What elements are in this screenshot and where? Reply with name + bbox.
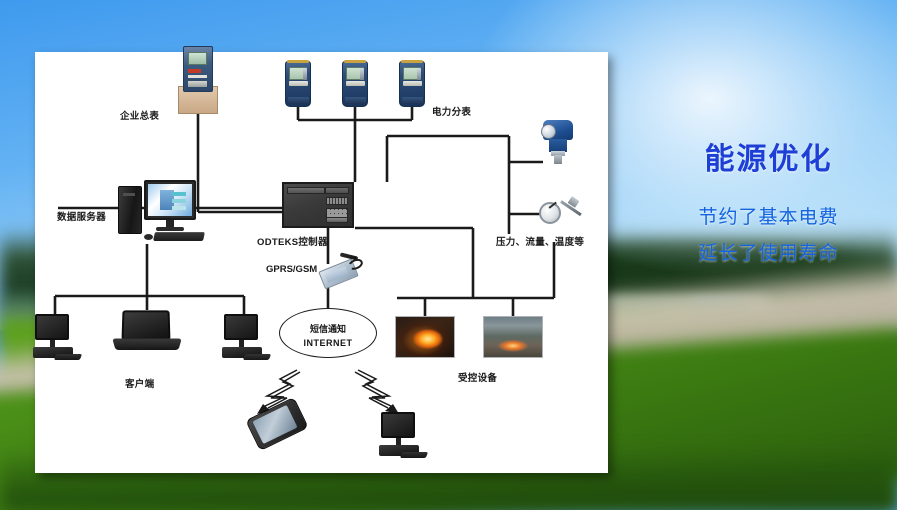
controller-box-icon [282,182,354,228]
node-mobile-terminal[interactable] [250,407,304,441]
furnace-photo [395,316,455,358]
node-gprs-modem[interactable] [320,257,364,287]
label-enterprise-meter: 企业总表 [120,108,159,122]
label-controller: ODTEKS控制器 [257,234,328,248]
electric-meter-icon [342,61,368,107]
network-cloud-icon[interactable]: 短信通知 INTERNET [279,308,377,358]
electric-meter-icon [285,61,311,107]
node-client-desktop-1[interactable] [29,314,81,364]
label-sensors: 压力、流量、温度等 [496,234,584,248]
node-remote-pc[interactable] [375,412,427,462]
node-power-submeter-1[interactable] [285,61,311,107]
node-furnace[interactable] [395,316,455,358]
cloud-line-1: 短信通知 [280,322,376,335]
cloud-line-2: INTERNET [280,338,376,348]
node-power-submeter-3[interactable] [399,61,425,107]
node-enterprise-meter[interactable] [178,46,218,114]
label-clients: 客户端 [125,376,154,390]
electric-meter-icon [399,61,425,107]
desktop-computer-icon [118,180,204,242]
diagram-canvas: 企业总表 电力分表 ODTEKS控制器 [35,52,608,473]
electric-meter-cabinet-icon [178,46,218,114]
node-data-server[interactable] [118,180,204,242]
desktop-computer-icon [375,412,427,462]
desktop-computer-icon [218,314,270,364]
pressure-transmitter-icon [541,120,575,164]
diagram-panel: 企业总表 电力分表 ODTEKS控制器 [35,52,608,473]
caption-line-1: 节约了基本电费 [640,200,897,236]
node-controller[interactable] [282,182,354,228]
label-gprs-modem: GPRS/GSM [266,264,317,275]
node-gauge-probe[interactable] [539,198,587,230]
caption-line-2: 延长了使用寿命 [640,236,897,272]
smelting-plant-photo [483,316,543,358]
caption-subtitle-group: 节约了基本电费 延长了使用寿命 [640,200,897,272]
desktop-computer-icon [29,314,81,364]
node-pressure-transmitter[interactable] [541,120,575,164]
gauge-probe-icon [539,198,587,230]
node-smelting-plant[interactable] [483,316,543,358]
node-client-laptop[interactable] [114,310,180,354]
caption-block: 能源优化 节约了基本电费 延长了使用寿命 [640,140,897,272]
label-power-submeters: 电力分表 [432,104,471,118]
node-client-desktop-2[interactable] [218,314,270,364]
node-power-submeter-2[interactable] [342,61,368,107]
label-data-server: 数据服务器 [57,209,106,223]
laptop-icon [114,310,180,354]
label-controlled-equipment: 受控设备 [458,370,497,384]
caption-title: 能源优化 [640,140,897,180]
